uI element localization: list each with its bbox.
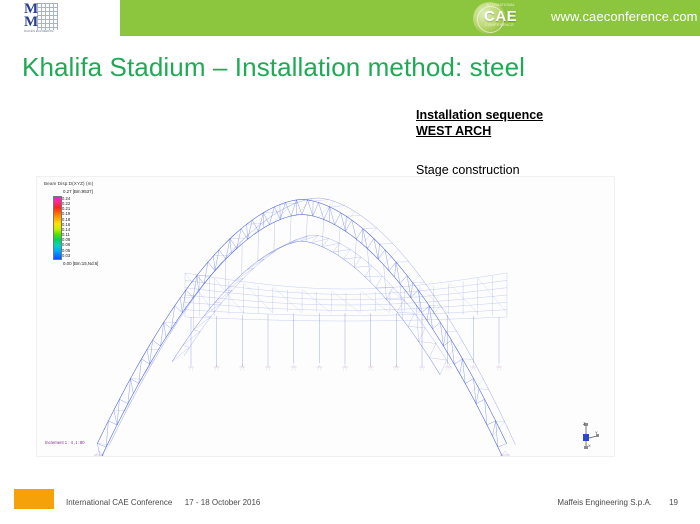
caption-installation-sequence: Installation sequence [416,107,676,123]
axis-label-y: Y [595,430,598,435]
footer-page-number: 19 [669,498,678,507]
page-title: Khalifa Stadium – Installation method: s… [22,52,682,83]
axis-label-z: Z [583,421,585,426]
cae-logo-sub-text: CONFERENCE [485,23,514,27]
fea-increment-label: Increment 1 : 4 ,1: 80 [45,440,85,445]
caption-west-arch: WEST ARCH [416,123,676,139]
logo-caption: MAFFEIS ENGINEERING [24,30,58,35]
footer-accent-block [14,489,54,509]
axis-label-x: X [588,443,591,448]
footer-divider [0,488,700,489]
logo-grid-pattern [37,3,58,30]
footer-conference-name: International CAE Conference [66,498,172,507]
stadium-arch-wireframe-model [37,177,614,456]
cae-conference-logo: INTERNATIONAL CAE CONFERENCE [470,0,524,36]
caption-heading-block: Installation sequence WEST ARCH [416,107,676,139]
cae-logo-top-text: INTERNATIONAL [486,3,515,7]
top-banner: M M MAFFEIS ENGINEERING INTERNATIONAL CA… [0,0,700,36]
footer-conference-dates: 17 - 18 October 2016 [185,498,261,507]
caption-stage-construction: Stage construction [416,163,520,177]
axis-triad-icon: Z Y X [574,422,600,450]
footer-company-name: Maffeis Engineering S.p.A. [557,498,652,507]
website-url[interactable]: www.caeconference.com [551,9,698,24]
footer-conference-info: International CAE Conference 17 - 18 Oct… [66,498,260,507]
logo-letter-bottom: M [24,16,38,29]
maffeis-logo: M M MAFFEIS ENGINEERING [24,3,58,35]
fea-result-panel: Beam Disp:D(XYZ) (m) 0.27 [Bm:9537] 0.24… [36,176,615,457]
